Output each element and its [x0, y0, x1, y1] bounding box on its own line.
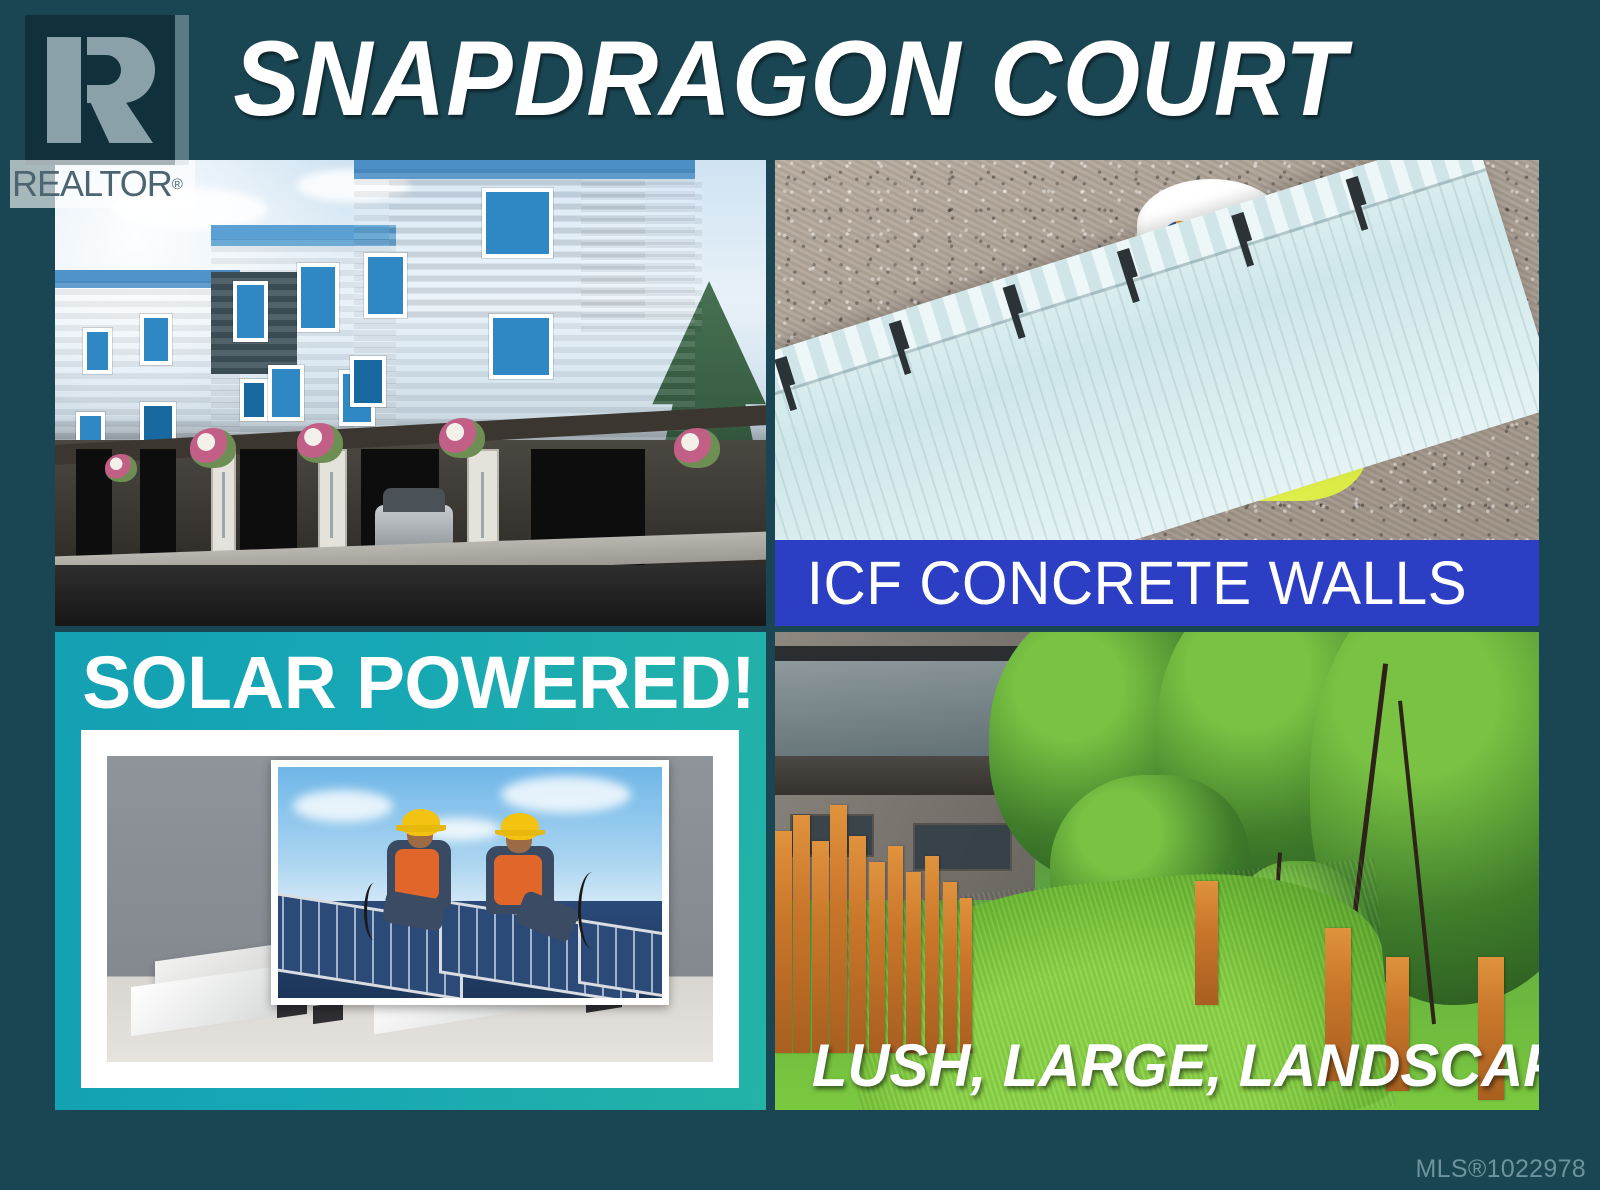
- collage-cell-icf[interactable]: ICF CONCRETE WALLS: [775, 160, 1539, 626]
- exterior-townhouse-photo: [55, 160, 766, 626]
- fence-plank: [906, 872, 921, 1053]
- fence-plank: [960, 898, 972, 1053]
- flyer-header: SNAPDRAGON COURT: [0, 0, 1600, 158]
- window: [240, 379, 268, 421]
- window: [297, 263, 340, 333]
- window: [489, 314, 553, 379]
- solar-feature-panel: SOLAR POWERED!: [55, 632, 766, 1110]
- icf-banner: ICF CONCRETE WALLS: [775, 540, 1539, 626]
- landscape-caption: LUSH, LARGE, LANDSCAPE: [812, 1036, 1518, 1096]
- fence-plank: [830, 805, 847, 1053]
- photo-collage: ICF CONCRETE WALLS SOLAR POWERED!: [55, 158, 1539, 1110]
- page-title: SNAPDRAGON COURT: [241, 8, 1338, 148]
- fence-plank: [869, 862, 884, 1053]
- icf-construction-photo: ICF CONCRETE WALLS: [775, 160, 1539, 626]
- collage-cell-townhouse[interactable]: [55, 160, 766, 626]
- mls-number: MLS®1022978: [1416, 1155, 1586, 1184]
- window: [350, 356, 386, 407]
- fence-plank: [793, 815, 810, 1052]
- fence-plank: [775, 831, 792, 1053]
- collage-cell-solar[interactable]: SOLAR POWERED!: [55, 632, 766, 1110]
- flower-basket: [439, 418, 485, 458]
- cloud: [112, 188, 268, 230]
- fence-plank: [812, 841, 829, 1053]
- collage-cell-landscape[interactable]: LUSH, LARGE, LANDSCAPE: [775, 632, 1539, 1110]
- fence-plank: [925, 856, 939, 1052]
- cable: [364, 883, 384, 940]
- fence-plank: [849, 836, 866, 1053]
- building-dark-siding-b: [581, 179, 702, 333]
- hard-hat-icon: [402, 809, 440, 836]
- window: [83, 328, 111, 375]
- hard-hat-icon: [501, 813, 539, 840]
- pv-cell: [313, 1002, 343, 1025]
- cedar-fence: [775, 795, 1111, 1053]
- listing-flyer: SNAPDRAGON COURT REALTOR®: [0, 0, 1600, 1190]
- flower-basket: [105, 454, 137, 482]
- flower-basket: [674, 428, 720, 468]
- installer-left: [378, 809, 474, 952]
- flower-basket: [190, 428, 236, 468]
- solar-heading: SOLAR POWERED!: [82, 640, 730, 726]
- balcony-railing: [775, 646, 1035, 660]
- installer-leg: [513, 889, 580, 944]
- backyard-landscape-photo: LUSH, LARGE, LANDSCAPE: [775, 632, 1539, 1110]
- cloud: [501, 776, 632, 813]
- fence-plank: [888, 846, 903, 1052]
- installer-right: [478, 813, 578, 961]
- driveway-asphalt: [55, 565, 766, 626]
- window: [482, 188, 553, 258]
- window: [268, 365, 304, 421]
- flower-basket: [297, 423, 343, 463]
- window: [140, 314, 172, 365]
- icf-banner-label: ICF CONCRETE WALLS: [807, 553, 1467, 614]
- fence-plank: [943, 882, 956, 1052]
- fence-plank: [1195, 881, 1218, 1005]
- window: [364, 253, 407, 318]
- window: [233, 281, 269, 342]
- solar-installers-photo: [271, 760, 669, 1005]
